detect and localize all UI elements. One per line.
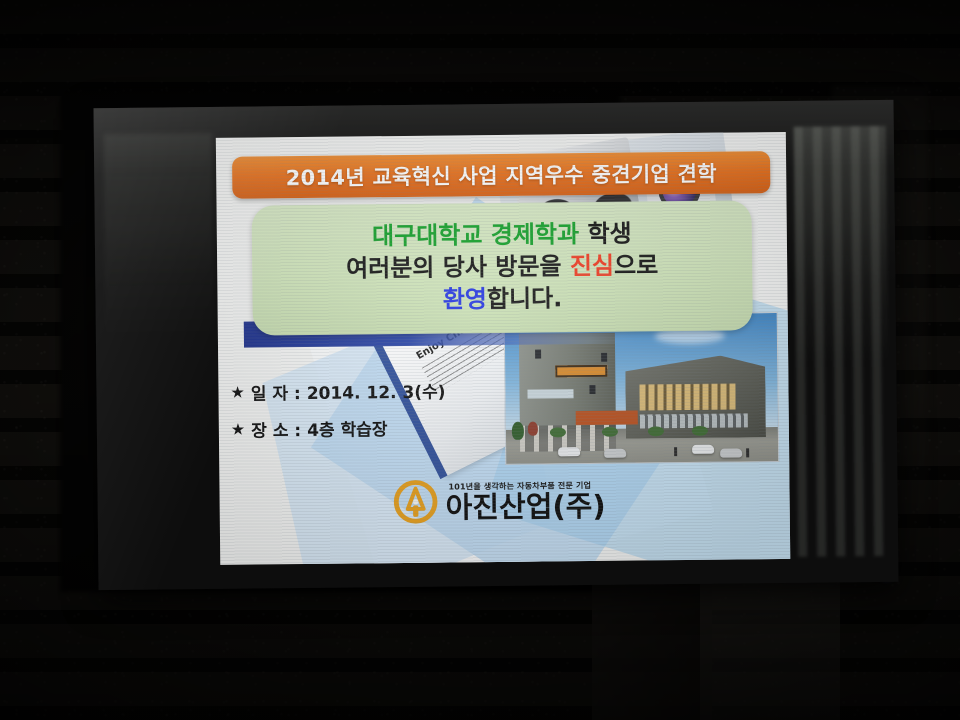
photo-window	[535, 350, 541, 359]
photo-person	[674, 447, 677, 456]
company-name: 아진산업(주)	[446, 491, 606, 522]
detail-value-date: 2014. 12. 3(수)	[307, 378, 446, 404]
welcome-line-3: 환영합니다.	[443, 283, 563, 316]
detail-row-date: ★ 일 자 : 2014. 12. 3(수)	[230, 377, 500, 405]
photo-car	[692, 445, 714, 454]
company-logo-lockup: 101년을 생각하는 자동차부품 전문 기업 아진산업(주)	[393, 478, 605, 524]
photo-car	[720, 448, 742, 457]
photo-window	[589, 385, 595, 394]
photo-window-strip	[527, 389, 573, 398]
event-details-list: ★ 일 자 : 2014. 12. 3(수) ★ 장 소 : 4층 학습장	[230, 377, 501, 454]
presentation-slide: Enjoy Changing ! 2014년 교육혁신 사업 지역우수 중견기업…	[216, 132, 790, 565]
welcome-line2-highlight: 진심	[570, 252, 614, 280]
photo-window	[601, 353, 607, 362]
photo-tree	[528, 422, 538, 436]
welcome-line-2: 여러분의 당사 방문을 진심으로	[346, 250, 658, 285]
welcome-line1-highlight: 대구대학교 경제학과	[372, 220, 579, 250]
photo-person	[746, 448, 749, 457]
welcome-line-1: 대구대학교 경제학과 학생	[372, 219, 632, 254]
panel-reflection-right	[794, 126, 890, 557]
slide-title-text: 2014년 교육혁신 사업 지역우수 중견기업 견학	[285, 158, 717, 193]
welcome-line1-rest: 학생	[579, 220, 632, 249]
photo-tree	[512, 422, 524, 440]
detail-row-location: ★ 장 소 : 4층 학습장	[231, 414, 501, 442]
star-bullet-icon: ★	[231, 420, 246, 439]
welcome-line2-start: 여러분의 당사 방문을	[346, 252, 570, 282]
logo-text-group: 101년을 생각하는 자동차부품 전문 기업 아진산업(주)	[445, 479, 605, 522]
photo-building-right-glazing	[639, 383, 735, 410]
welcome-line3-end: 합니다.	[487, 284, 563, 313]
star-bullet-icon: ★	[230, 383, 245, 402]
display-bezel: Enjoy Changing ! 2014년 교육혁신 사업 지역우수 중견기업…	[93, 100, 898, 590]
wall-mounted-display: Enjoy Changing ! 2014년 교육혁신 사업 지역우수 중견기업…	[93, 100, 898, 590]
photo-window-strip	[555, 365, 607, 378]
photo-scene: Enjoy Changing ! 2014년 교육혁신 사업 지역우수 중견기업…	[0, 0, 960, 720]
photo-car	[604, 449, 626, 458]
welcome-line3-highlight: 환영	[443, 285, 487, 313]
welcome-line2-end: 으로	[614, 251, 658, 279]
slide-title-banner: 2014년 교육혁신 사업 지역우수 중견기업 견학	[232, 151, 770, 199]
photo-building-entrance	[576, 411, 638, 426]
welcome-message-box: 대구대학교 경제학과 학생 여러분의 당사 방문을 진심으로 환영합니다.	[252, 200, 753, 335]
detail-value-location: 4층 학습장	[307, 415, 388, 441]
photo-car	[558, 447, 580, 456]
detail-label-date: 일 자 :	[251, 379, 301, 405]
detail-label-location: 장 소 :	[251, 416, 301, 442]
ajin-wheel-logo-icon	[393, 480, 437, 524]
panel-reflection-left	[104, 133, 216, 564]
